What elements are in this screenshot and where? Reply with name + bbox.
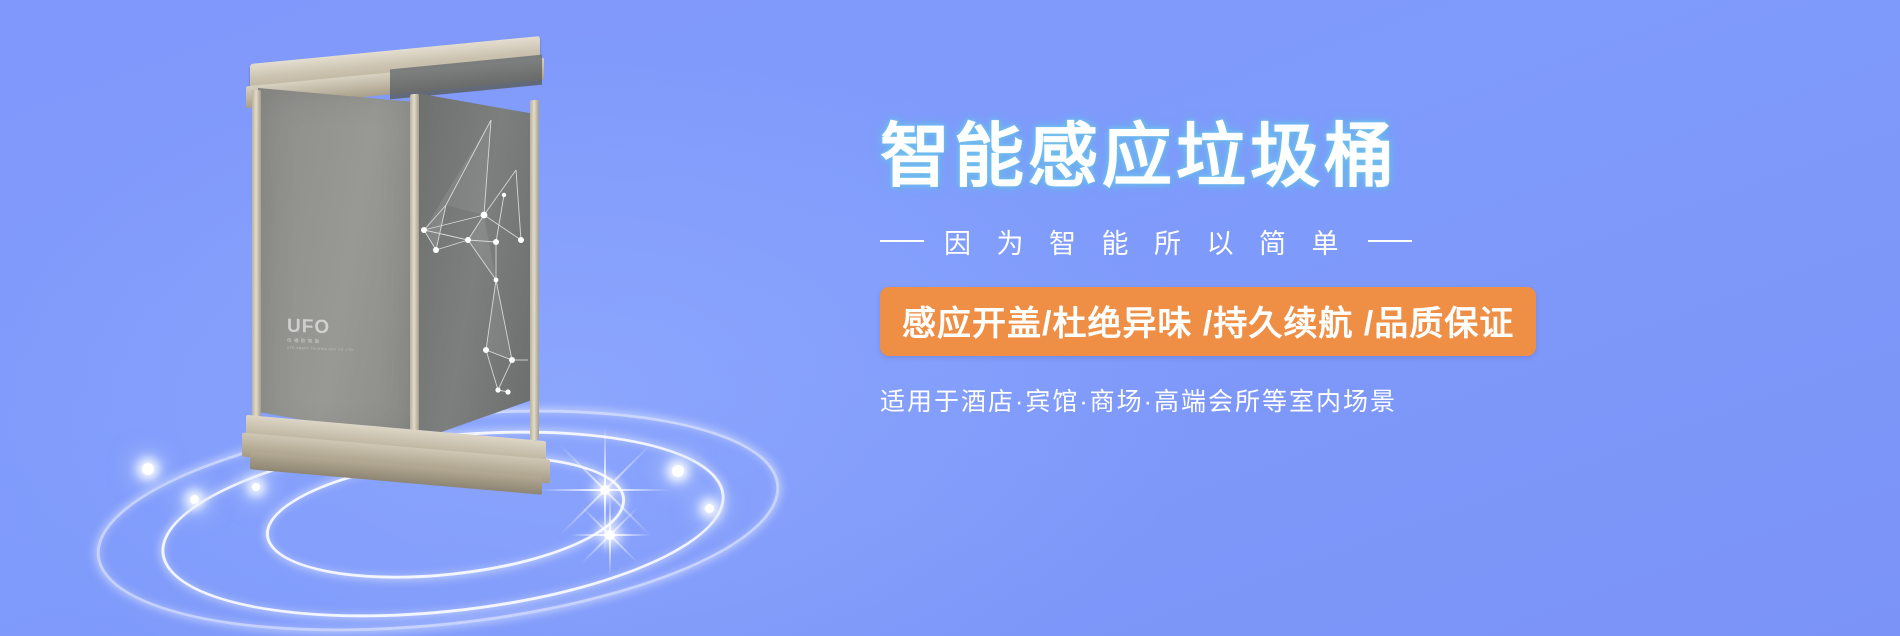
feature-highlight-badge: 感应开盖/杜绝异味 /持久续航 /品质保证 <box>880 287 1536 356</box>
bin-frame-rail <box>252 90 261 442</box>
product-illustration: UFO 优 福 欧 智 能 UFO SMART TECHNOLOGY CO.,L… <box>100 40 820 600</box>
glow-dot-icon <box>190 495 199 504</box>
page-title: 智能感应垃圾桶 <box>880 120 1760 194</box>
bin-frame-rail <box>530 100 539 441</box>
bin-frame-rail <box>410 94 419 446</box>
brand-logo-cn-line1: 优 福 欧 智 能 <box>287 338 363 347</box>
product-promo-banner: UFO 优 福 欧 智 能 UFO SMART TECHNOLOGY CO.,L… <box>0 0 1900 636</box>
polygon-network-graphic <box>416 110 536 430</box>
subtitle-text: 因 为 智 能 所 以 简 单 <box>944 222 1348 261</box>
usage-scenarios-text: 适用于酒店·宾馆·商场·高端会所等室内场景 <box>880 382 1760 418</box>
sparkle-star-icon <box>570 495 650 575</box>
glow-dot-icon <box>672 465 684 477</box>
trash-bin-body: UFO 优 福 欧 智 能 UFO SMART TECHNOLOGY CO.,L… <box>240 50 550 470</box>
glow-dot-icon <box>252 483 260 491</box>
brand-logo-mark: UFO <box>287 317 363 339</box>
brand-logo: UFO 优 福 欧 智 能 UFO SMART TECHNOLOGY CO.,L… <box>287 317 363 353</box>
bin-panel-left <box>258 88 416 440</box>
glow-dot-icon <box>142 463 154 475</box>
banner-subtitle: 因 为 智 能 所 以 简 单 <box>880 222 1760 261</box>
subtitle-dash-right <box>1368 240 1412 242</box>
banner-copy-block: 智能感应垃圾桶 因 为 智 能 所 以 简 单 感应开盖/杜绝异味 /持久续航 … <box>880 120 1760 418</box>
subtitle-dash-left <box>880 240 924 242</box>
glow-dot-icon <box>705 504 714 513</box>
